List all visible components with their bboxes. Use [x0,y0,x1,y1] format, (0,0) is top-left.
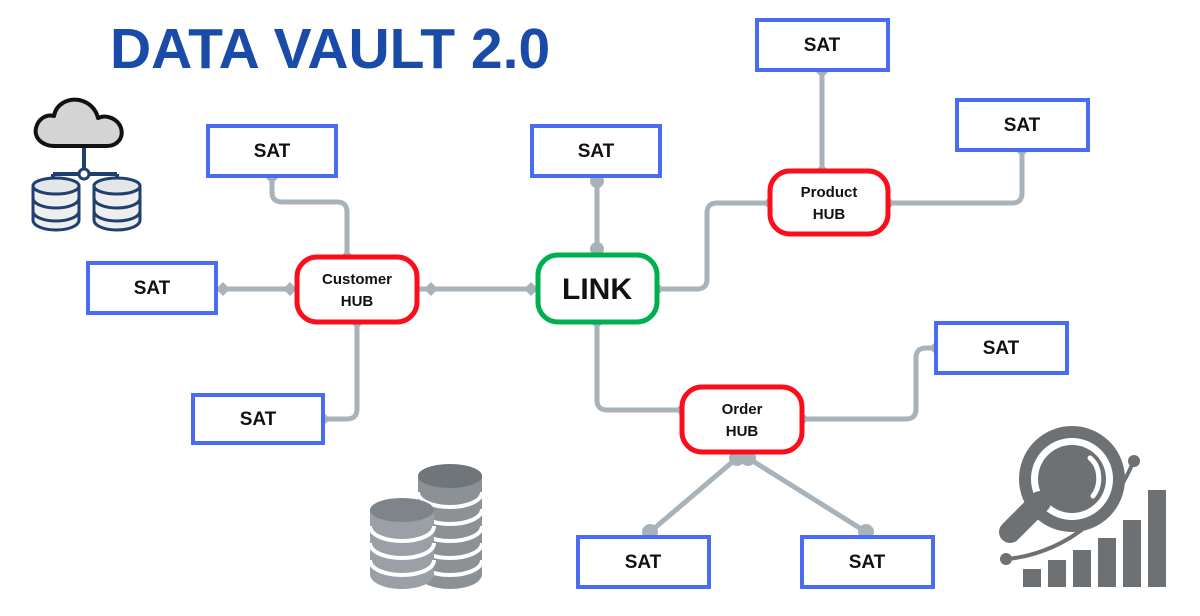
data-vault-diagram: DATA VAULT 2.0 [0,0,1200,616]
disk-stack-short [370,498,434,589]
customer-hub-label-line2: HUB [341,293,374,310]
product-hub-node[interactable]: Product HUB [770,171,888,234]
sat-label: SAT [578,141,615,162]
sat-product-top[interactable]: SAT [757,20,888,70]
link-node[interactable]: LINK [538,255,657,322]
product-hub-label-line2: HUB [813,206,846,223]
link-node-label: LINK [562,273,632,306]
sat-label: SAT [804,35,841,56]
sat-order-bottom-left[interactable]: SAT [578,537,709,587]
order-hub-label-line2: HUB [726,423,759,440]
sat-label: SAT [254,141,291,162]
order-hub-label-line1: Order [722,401,763,418]
sat-label: SAT [983,338,1020,359]
sat-order-bottom-right[interactable]: SAT [802,537,933,587]
page-title: DATA VAULT 2.0 [110,17,550,81]
sat-label: SAT [849,552,886,573]
sat-customer-top[interactable]: SAT [208,126,336,176]
product-hub-label-line1: Product [801,184,858,201]
db-cylinder-right [94,178,140,230]
sat-order-right[interactable]: SAT [936,323,1067,373]
sat-customer-left[interactable]: SAT [88,263,216,313]
customer-hub-label-line1: Customer [322,271,392,288]
db-cylinder-left [33,178,79,230]
sat-product-right[interactable]: SAT [957,100,1088,150]
sat-label: SAT [134,278,171,299]
sat-label: SAT [240,409,277,430]
order-hub-node[interactable]: Order HUB [682,387,802,452]
sat-customer-bottom[interactable]: SAT [193,395,323,443]
sat-label: SAT [1004,115,1041,136]
sat-label: SAT [625,552,662,573]
customer-hub-node[interactable]: Customer HUB [297,257,417,322]
sat-link-top[interactable]: SAT [532,126,660,176]
